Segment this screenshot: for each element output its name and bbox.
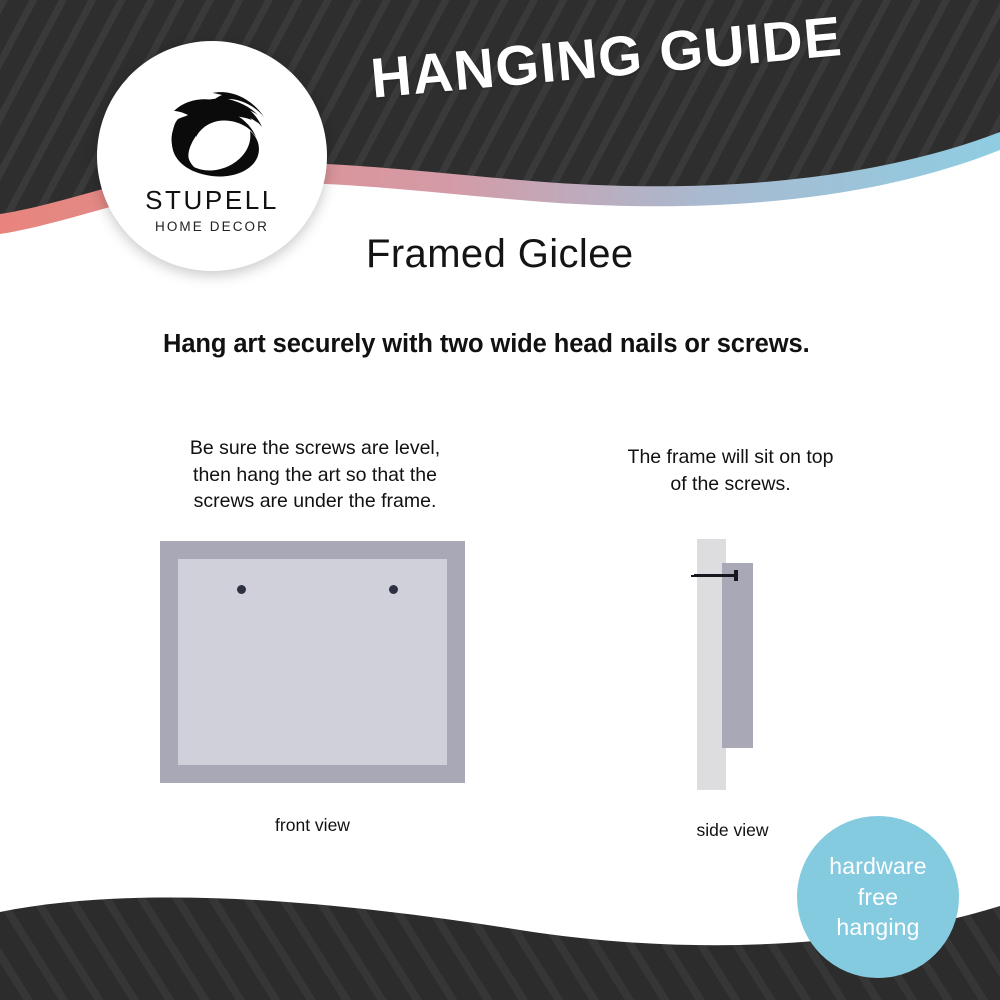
front-view-label: front view [160,815,465,836]
nail-head-icon [734,570,738,581]
screw-dot-left-icon [237,585,246,594]
side-view-caption: The frame will sit on top of the screws. [583,444,878,497]
logo-wordmark: STUPELL [145,187,279,213]
side-view-caption-line-1: The frame will sit on top [583,444,878,471]
logo-tagline: HOME DECOR [155,220,269,234]
page-title: HANGING GUIDE [368,3,845,111]
front-view-frame-diagram [160,541,465,783]
nail-shaft-icon [694,574,736,577]
badge-line-1: hardware [829,851,927,882]
lede-text: Hang art securely with two wide head nai… [163,330,903,359]
side-view-frame-diagram [690,530,800,800]
hanging-guide-page: STUPELL HOME DECOR HANGING GUIDE Framed … [0,0,1000,1000]
stupell-logo-badge: STUPELL HOME DECOR [97,41,327,271]
side-view-caption-line-2: of the screws. [583,471,878,498]
frame-profile [722,563,753,748]
badge-line-3: hanging [836,912,919,943]
stupell-swoosh-logo-icon [152,67,272,185]
front-view-caption-line-1: Be sure the screws are level, [160,435,470,462]
front-view-caption-line-2: then hang the art so that the [160,462,470,489]
screw-dot-right-icon [389,585,398,594]
front-view-caption-line-3: screws are under the frame. [160,488,470,515]
badge-line-2: free [858,882,898,913]
product-title: Framed Giclee [366,232,634,277]
front-view-caption: Be sure the screws are level, then hang … [160,435,470,515]
side-view-label: side view [620,820,845,841]
frame-mat [178,559,447,765]
hardware-free-hanging-badge: hardware free hanging [797,816,959,978]
